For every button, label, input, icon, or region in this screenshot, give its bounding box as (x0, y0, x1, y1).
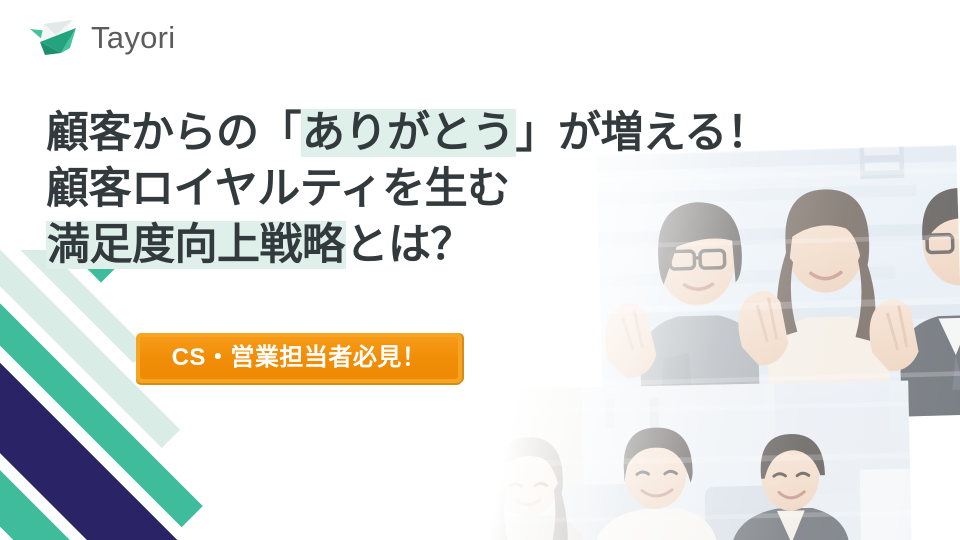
headline-line-1-post: 」が増える！ (516, 109, 770, 157)
headline-line-1-highlight: ありがとう (301, 109, 516, 157)
audience-badge-label: CS・営業担当者必見！ (172, 346, 427, 370)
paper-plane-envelope-icon (28, 17, 82, 57)
headline-line-3: 満足度向上戦略とは？ (46, 218, 886, 274)
headline-line-1: 顧客からの「ありがとう」が増える！ (46, 106, 886, 162)
headline-line-2-post: 顧客ロイヤルティを生む (46, 165, 510, 213)
headline-line-2: 顧客ロイヤルティを生む (46, 162, 886, 218)
audience-badge[interactable]: CS・営業担当者必見！ (136, 333, 462, 383)
photo-smiling-team-image (488, 381, 912, 540)
headline-line-1-pre: 顧客からの「 (46, 109, 301, 157)
headline-line-3-post: とは？ (346, 221, 474, 269)
brand-wordmark: Tayori (91, 22, 176, 53)
headline-line-3-highlight: 満足度向上戦略 (46, 221, 346, 269)
banner-canvas: Tayori 顧客からの「ありがとう」が増える！ 顧客ロイヤルティを生む 満足度… (0, 0, 960, 540)
photo-smiling-team (488, 381, 912, 540)
headline: 顧客からの「ありがとう」が増える！ 顧客ロイヤルティを生む 満足度向上戦略とは？ (46, 106, 886, 274)
audience-badge-inner: CS・営業担当者必見！ (140, 337, 458, 379)
brand-logo: Tayori (28, 17, 176, 57)
diagonal-stripes-bottom-left (0, 250, 260, 540)
